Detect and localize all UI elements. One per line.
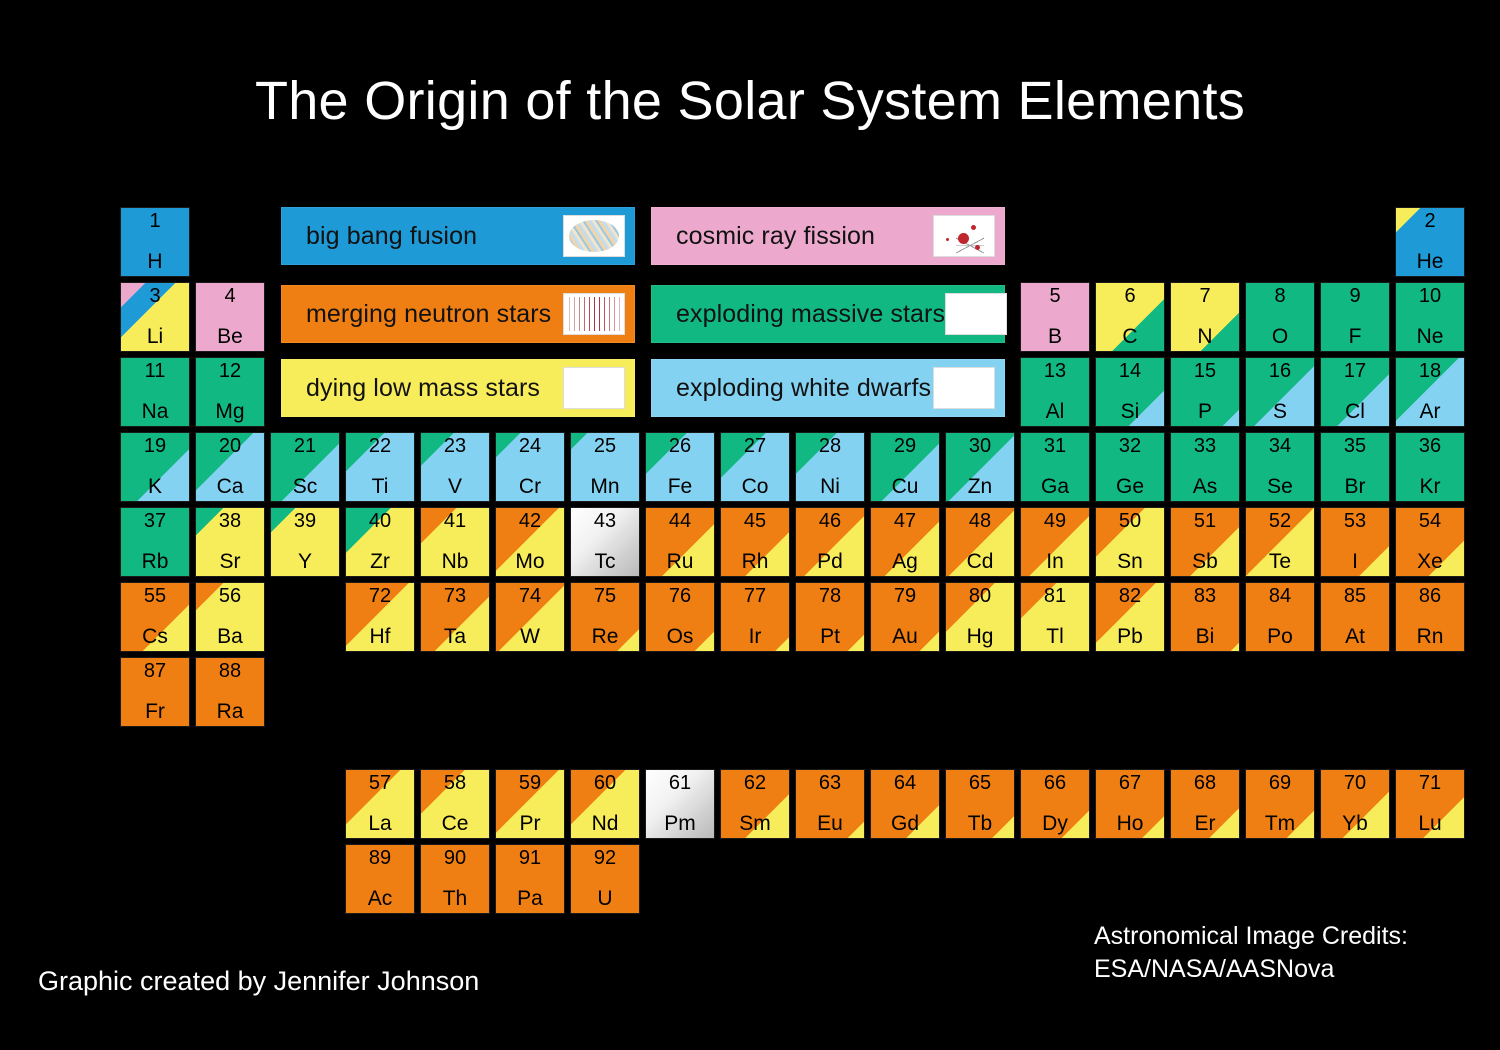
element-symbol: Yb — [1321, 813, 1389, 834]
element-symbol: Cd — [946, 551, 1014, 572]
element-atomic-number: 83 — [1171, 586, 1239, 606]
element-symbol: Mg — [196, 401, 264, 422]
planetary-nebula-image — [563, 367, 625, 409]
element-cell-la[interactable]: 57La — [345, 769, 415, 839]
element-cell-k[interactable]: 19K — [120, 432, 190, 502]
element-cell-ca[interactable]: 20Ca — [195, 432, 265, 502]
element-symbol: Ho — [1096, 813, 1164, 834]
element-symbol: Pa — [496, 888, 564, 909]
element-atomic-number: 11 — [121, 361, 189, 381]
element-cell-na[interactable]: 11Na — [120, 357, 190, 427]
element-symbol: Tl — [1021, 626, 1089, 647]
gravitational-wave-image — [563, 293, 625, 335]
element-symbol: Ru — [646, 551, 714, 572]
element-atomic-number: 47 — [871, 511, 939, 531]
element-cell-ho[interactable]: 67Ho — [1095, 769, 1165, 839]
element-atomic-number: 90 — [421, 848, 489, 868]
element-symbol: N — [1171, 326, 1239, 347]
element-cell-in[interactable]: 49In — [1020, 507, 1090, 577]
element-atomic-number: 87 — [121, 661, 189, 681]
element-symbol: Xe — [1396, 551, 1464, 572]
element-cell-ta[interactable]: 73Ta — [420, 582, 490, 652]
element-symbol: Po — [1246, 626, 1314, 647]
element-atomic-number: 7 — [1171, 286, 1239, 306]
element-cell-v[interactable]: 23V — [420, 432, 490, 502]
legend-label: exploding massive stars — [652, 300, 945, 329]
element-atomic-number: 23 — [421, 436, 489, 456]
element-cell-mg[interactable]: 12Mg — [195, 357, 265, 427]
element-symbol: Ni — [796, 476, 864, 497]
element-cell-gd[interactable]: 64Gd — [870, 769, 940, 839]
element-cell-ce[interactable]: 58Ce — [420, 769, 490, 839]
legend-item-dying-low-mass-stars: dying low mass stars — [281, 359, 635, 417]
element-cell-i[interactable]: 53I — [1320, 507, 1390, 577]
element-cell-as[interactable]: 33As — [1170, 432, 1240, 502]
element-atomic-number: 35 — [1321, 436, 1389, 456]
element-atomic-number: 81 — [1021, 586, 1089, 606]
element-cell-f[interactable]: 9F — [1320, 282, 1390, 352]
element-symbol: Te — [1246, 551, 1314, 572]
element-atomic-number: 53 — [1321, 511, 1389, 531]
element-cell-cs[interactable]: 55Cs — [120, 582, 190, 652]
element-symbol: V — [421, 476, 489, 497]
element-atomic-number: 74 — [496, 586, 564, 606]
element-symbol: F — [1321, 326, 1389, 347]
image-credits-value: ESA/NASA/AASNova — [1094, 953, 1408, 986]
element-symbol: Be — [196, 326, 264, 347]
element-symbol: Cl — [1321, 401, 1389, 422]
element-atomic-number: 9 — [1321, 286, 1389, 306]
author-credit: Graphic created by Jennifer Johnson — [38, 966, 479, 997]
white-dwarf-supernova-image — [933, 367, 995, 409]
element-symbol: Sr — [196, 551, 264, 572]
element-symbol: Fe — [646, 476, 714, 497]
element-symbol: Nd — [571, 813, 639, 834]
element-symbol: Cu — [871, 476, 939, 497]
element-symbol: Br — [1321, 476, 1389, 497]
element-symbol: Si — [1096, 401, 1164, 422]
element-atomic-number: 88 — [196, 661, 264, 681]
element-symbol: Nb — [421, 551, 489, 572]
element-atomic-number: 14 — [1096, 361, 1164, 381]
element-symbol: As — [1171, 476, 1239, 497]
element-cell-lu[interactable]: 71Lu — [1395, 769, 1465, 839]
element-symbol: S — [1246, 401, 1314, 422]
element-symbol: Bi — [1171, 626, 1239, 647]
element-atomic-number: 3 — [121, 286, 189, 306]
element-cell-pt[interactable]: 78Pt — [795, 582, 865, 652]
element-symbol: Al — [1021, 401, 1089, 422]
element-cell-fe[interactable]: 26Fe — [645, 432, 715, 502]
element-cell-si[interactable]: 14Si — [1095, 357, 1165, 427]
element-cell-al[interactable]: 13Al — [1020, 357, 1090, 427]
element-cell-br[interactable]: 35Br — [1320, 432, 1390, 502]
element-atomic-number: 34 — [1246, 436, 1314, 456]
image-credits: Astronomical Image Credits: ESA/NASA/AAS… — [1094, 920, 1408, 986]
element-atomic-number: 62 — [721, 773, 789, 793]
element-cell-eu[interactable]: 63Eu — [795, 769, 865, 839]
element-cell-rn[interactable]: 86Rn — [1395, 582, 1465, 652]
element-cell-fr[interactable]: 87Fr — [120, 657, 190, 727]
element-cell-s[interactable]: 16S — [1245, 357, 1315, 427]
element-symbol: Sc — [271, 476, 339, 497]
element-cell-h[interactable]: 1H — [120, 207, 190, 277]
element-symbol: Rb — [121, 551, 189, 572]
element-symbol: Eu — [796, 813, 864, 834]
element-cell-be[interactable]: 4Be — [195, 282, 265, 352]
element-symbol: Ca — [196, 476, 264, 497]
element-symbol: W — [496, 626, 564, 647]
element-atomic-number: 70 — [1321, 773, 1389, 793]
legend-label: exploding white dwarfs — [652, 374, 933, 403]
element-symbol: Sb — [1171, 551, 1239, 572]
element-symbol: H — [121, 251, 189, 272]
element-atomic-number: 15 — [1171, 361, 1239, 381]
element-symbol: Os — [646, 626, 714, 647]
element-atomic-number: 82 — [1096, 586, 1164, 606]
element-atomic-number: 80 — [946, 586, 1014, 606]
element-cell-po[interactable]: 84Po — [1245, 582, 1315, 652]
element-atomic-number: 78 — [796, 586, 864, 606]
element-cell-w[interactable]: 74W — [495, 582, 565, 652]
element-atomic-number: 43 — [571, 511, 639, 531]
element-cell-sr[interactable]: 38Sr — [195, 507, 265, 577]
element-cell-ge[interactable]: 32Ge — [1095, 432, 1165, 502]
element-atomic-number: 72 — [346, 586, 414, 606]
element-symbol: Rh — [721, 551, 789, 572]
element-symbol: Zr — [346, 551, 414, 572]
element-symbol: Fr — [121, 701, 189, 722]
element-atomic-number: 68 — [1171, 773, 1239, 793]
element-symbol: Er — [1171, 813, 1239, 834]
element-atomic-number: 27 — [721, 436, 789, 456]
element-symbol: Ge — [1096, 476, 1164, 497]
element-symbol: Zn — [946, 476, 1014, 497]
element-atomic-number: 17 — [1321, 361, 1389, 381]
element-cell-hg[interactable]: 80Hg — [945, 582, 1015, 652]
element-symbol: Pd — [796, 551, 864, 572]
element-atomic-number: 49 — [1021, 511, 1089, 531]
element-cell-er[interactable]: 68Er — [1170, 769, 1240, 839]
element-cell-ac[interactable]: 89Ac — [345, 844, 415, 914]
element-symbol: La — [346, 813, 414, 834]
element-symbol: Ce — [421, 813, 489, 834]
element-cell-cl[interactable]: 17Cl — [1320, 357, 1390, 427]
element-cell-at[interactable]: 85At — [1320, 582, 1390, 652]
element-cell-sn[interactable]: 50Sn — [1095, 507, 1165, 577]
element-atomic-number: 28 — [796, 436, 864, 456]
element-symbol: Cr — [496, 476, 564, 497]
legend-label: cosmic ray fission — [652, 222, 933, 251]
element-cell-hf[interactable]: 72Hf — [345, 582, 415, 652]
element-cell-ba[interactable]: 56Ba — [195, 582, 265, 652]
legend-item-exploding-massive-stars: exploding massive stars — [651, 285, 1005, 343]
element-atomic-number: 37 — [121, 511, 189, 531]
image-credits-label: Astronomical Image Credits: — [1094, 920, 1408, 953]
element-atomic-number: 21 — [271, 436, 339, 456]
element-symbol: Dy — [1021, 813, 1089, 834]
element-atomic-number: 85 — [1321, 586, 1389, 606]
element-atomic-number: 58 — [421, 773, 489, 793]
element-atomic-number: 48 — [946, 511, 1014, 531]
element-cell-ti[interactable]: 22Ti — [345, 432, 415, 502]
element-symbol: Au — [871, 626, 939, 647]
element-atomic-number: 45 — [721, 511, 789, 531]
legend-item-exploding-white-dwarfs: exploding white dwarfs — [651, 359, 1005, 417]
element-atomic-number: 16 — [1246, 361, 1314, 381]
element-symbol: Ti — [346, 476, 414, 497]
element-atomic-number: 8 — [1246, 286, 1314, 306]
element-atomic-number: 33 — [1171, 436, 1239, 456]
element-atomic-number: 38 — [196, 511, 264, 531]
element-symbol: Tb — [946, 813, 1014, 834]
element-symbol: He — [1396, 251, 1464, 272]
element-symbol: Re — [571, 626, 639, 647]
element-symbol: Co — [721, 476, 789, 497]
element-atomic-number: 51 — [1171, 511, 1239, 531]
element-atomic-number: 92 — [571, 848, 639, 868]
element-cell-re[interactable]: 75Re — [570, 582, 640, 652]
element-cell-bi[interactable]: 83Bi — [1170, 582, 1240, 652]
element-cell-sm[interactable]: 62Sm — [720, 769, 790, 839]
element-symbol: Ra — [196, 701, 264, 722]
element-atomic-number: 42 — [496, 511, 564, 531]
element-cell-ni[interactable]: 28Ni — [795, 432, 865, 502]
legend-item-cosmic-ray-fission: cosmic ray fission — [651, 207, 1005, 265]
element-symbol: Sm — [721, 813, 789, 834]
element-cell-au[interactable]: 79Au — [870, 582, 940, 652]
element-atomic-number: 18 — [1396, 361, 1464, 381]
element-symbol: Kr — [1396, 476, 1464, 497]
element-cell-b[interactable]: 5B — [1020, 282, 1090, 352]
element-cell-xe[interactable]: 54Xe — [1395, 507, 1465, 577]
element-symbol: Na — [121, 401, 189, 422]
element-cell-y[interactable]: 39Y — [270, 507, 340, 577]
element-cell-pr[interactable]: 59Pr — [495, 769, 565, 839]
element-cell-pd[interactable]: 46Pd — [795, 507, 865, 577]
element-atomic-number: 25 — [571, 436, 639, 456]
element-symbol: Gd — [871, 813, 939, 834]
element-atomic-number: 32 — [1096, 436, 1164, 456]
element-cell-ru[interactable]: 44Ru — [645, 507, 715, 577]
element-atomic-number: 4 — [196, 286, 264, 306]
element-atomic-number: 64 — [871, 773, 939, 793]
element-cell-sb[interactable]: 51Sb — [1170, 507, 1240, 577]
element-cell-pb[interactable]: 82Pb — [1095, 582, 1165, 652]
element-cell-nb[interactable]: 41Nb — [420, 507, 490, 577]
element-atomic-number: 75 — [571, 586, 639, 606]
element-symbol: Ga — [1021, 476, 1089, 497]
element-cell-ir[interactable]: 77Ir — [720, 582, 790, 652]
element-atomic-number: 59 — [496, 773, 564, 793]
element-cell-ar[interactable]: 18Ar — [1395, 357, 1465, 427]
element-symbol: Tm — [1246, 813, 1314, 834]
element-cell-mn[interactable]: 25Mn — [570, 432, 640, 502]
element-cell-yb[interactable]: 70Yb — [1320, 769, 1390, 839]
element-symbol: Se — [1246, 476, 1314, 497]
element-symbol: Pr — [496, 813, 564, 834]
element-symbol: Mn — [571, 476, 639, 497]
element-atomic-number: 76 — [646, 586, 714, 606]
element-symbol: Ta — [421, 626, 489, 647]
legend-item-merging-neutron-stars: merging neutron stars — [281, 285, 635, 343]
element-cell-rb[interactable]: 37Rb — [120, 507, 190, 577]
element-cell-n[interactable]: 7N — [1170, 282, 1240, 352]
element-atomic-number: 19 — [121, 436, 189, 456]
element-symbol: Ba — [196, 626, 264, 647]
element-symbol: I — [1321, 551, 1389, 572]
element-atomic-number: 26 — [646, 436, 714, 456]
element-atomic-number: 40 — [346, 511, 414, 531]
element-atomic-number: 63 — [796, 773, 864, 793]
element-atomic-number: 57 — [346, 773, 414, 793]
periodic-table-graphic: The Origin of the Solar System Elements … — [0, 0, 1500, 1050]
element-atomic-number: 31 — [1021, 436, 1089, 456]
element-cell-li[interactable]: 3Li — [120, 282, 190, 352]
page-title: The Origin of the Solar System Elements — [0, 72, 1500, 131]
element-atomic-number: 13 — [1021, 361, 1089, 381]
element-symbol: Ne — [1396, 326, 1464, 347]
element-symbol: Pb — [1096, 626, 1164, 647]
element-atomic-number: 79 — [871, 586, 939, 606]
element-symbol: K — [121, 476, 189, 497]
legend-label: big bang fusion — [282, 222, 563, 251]
element-atomic-number: 77 — [721, 586, 789, 606]
element-symbol: O — [1246, 326, 1314, 347]
element-atomic-number: 10 — [1396, 286, 1464, 306]
element-atomic-number: 50 — [1096, 511, 1164, 531]
element-symbol: Mo — [496, 551, 564, 572]
element-cell-tl[interactable]: 81Tl — [1020, 582, 1090, 652]
element-atomic-number: 29 — [871, 436, 939, 456]
element-atomic-number: 20 — [196, 436, 264, 456]
element-cell-nd[interactable]: 60Nd — [570, 769, 640, 839]
element-symbol: Cs — [121, 626, 189, 647]
element-atomic-number: 6 — [1096, 286, 1164, 306]
element-symbol: In — [1021, 551, 1089, 572]
element-cell-ga[interactable]: 31Ga — [1020, 432, 1090, 502]
legend-item-big-bang-fusion: big bang fusion — [281, 207, 635, 265]
element-atomic-number: 66 — [1021, 773, 1089, 793]
element-cell-zr[interactable]: 40Zr — [345, 507, 415, 577]
element-symbol: Rn — [1396, 626, 1464, 647]
element-atomic-number: 1 — [121, 211, 189, 231]
element-symbol: At — [1321, 626, 1389, 647]
element-atomic-number: 71 — [1396, 773, 1464, 793]
element-cell-rh[interactable]: 45Rh — [720, 507, 790, 577]
element-cell-sc[interactable]: 21Sc — [270, 432, 340, 502]
element-cell-tc[interactable]: 43Tc — [570, 507, 640, 577]
element-cell-tb[interactable]: 65Tb — [945, 769, 1015, 839]
element-atomic-number: 91 — [496, 848, 564, 868]
element-atomic-number: 84 — [1246, 586, 1314, 606]
element-atomic-number: 12 — [196, 361, 264, 381]
element-atomic-number: 54 — [1396, 511, 1464, 531]
element-atomic-number: 65 — [946, 773, 1014, 793]
element-atomic-number: 89 — [346, 848, 414, 868]
legend-label: merging neutron stars — [282, 300, 563, 329]
supernova-image — [945, 293, 1007, 335]
element-atomic-number: 60 — [571, 773, 639, 793]
element-atomic-number: 24 — [496, 436, 564, 456]
cosmic-ray-spallation-image — [933, 215, 995, 257]
element-symbol: Hf — [346, 626, 414, 647]
element-cell-he[interactable]: 2He — [1395, 207, 1465, 277]
element-symbol: Y — [271, 551, 339, 572]
element-atomic-number: 5 — [1021, 286, 1089, 306]
element-atomic-number: 52 — [1246, 511, 1314, 531]
element-cell-o[interactable]: 8O — [1245, 282, 1315, 352]
element-cell-ra[interactable]: 88Ra — [195, 657, 265, 727]
element-cell-os[interactable]: 76Os — [645, 582, 715, 652]
element-cell-pm[interactable]: 61Pm — [645, 769, 715, 839]
element-cell-cu[interactable]: 29Cu — [870, 432, 940, 502]
element-atomic-number: 44 — [646, 511, 714, 531]
element-cell-ne[interactable]: 10Ne — [1395, 282, 1465, 352]
element-symbol: Lu — [1396, 813, 1464, 834]
element-symbol: U — [571, 888, 639, 909]
element-symbol: Sn — [1096, 551, 1164, 572]
element-symbol: Th — [421, 888, 489, 909]
element-cell-dy[interactable]: 66Dy — [1020, 769, 1090, 839]
element-atomic-number: 46 — [796, 511, 864, 531]
element-atomic-number: 73 — [421, 586, 489, 606]
element-cell-te[interactable]: 52Te — [1245, 507, 1315, 577]
element-atomic-number: 67 — [1096, 773, 1164, 793]
element-atomic-number: 2 — [1396, 211, 1464, 231]
element-cell-mo[interactable]: 42Mo — [495, 507, 565, 577]
element-atomic-number: 86 — [1396, 586, 1464, 606]
element-symbol: Li — [121, 326, 189, 347]
element-cell-pa[interactable]: 91Pa — [495, 844, 565, 914]
element-symbol: Hg — [946, 626, 1014, 647]
element-cell-ag[interactable]: 47Ag — [870, 507, 940, 577]
element-symbol: P — [1171, 401, 1239, 422]
element-symbol: Ar — [1396, 401, 1464, 422]
element-symbol: Ac — [346, 888, 414, 909]
element-symbol: Tc — [571, 551, 639, 572]
element-atomic-number: 55 — [121, 586, 189, 606]
element-atomic-number: 30 — [946, 436, 1014, 456]
element-cell-tm[interactable]: 69Tm — [1245, 769, 1315, 839]
element-cell-se[interactable]: 34Se — [1245, 432, 1315, 502]
element-cell-c[interactable]: 6C — [1095, 282, 1165, 352]
element-cell-th[interactable]: 90Th — [420, 844, 490, 914]
element-cell-zn[interactable]: 30Zn — [945, 432, 1015, 502]
cmb-map-image — [563, 215, 625, 257]
element-atomic-number: 39 — [271, 511, 339, 531]
element-symbol: Ag — [871, 551, 939, 572]
element-cell-p[interactable]: 15P — [1170, 357, 1240, 427]
element-atomic-number: 56 — [196, 586, 264, 606]
element-atomic-number: 69 — [1246, 773, 1314, 793]
element-symbol: Pm — [646, 813, 714, 834]
element-cell-u[interactable]: 92U — [570, 844, 640, 914]
element-atomic-number: 61 — [646, 773, 714, 793]
legend-label: dying low mass stars — [282, 374, 563, 403]
element-symbol: Pt — [796, 626, 864, 647]
element-cell-cr[interactable]: 24Cr — [495, 432, 565, 502]
element-atomic-number: 22 — [346, 436, 414, 456]
element-cell-kr[interactable]: 36Kr — [1395, 432, 1465, 502]
element-cell-cd[interactable]: 48Cd — [945, 507, 1015, 577]
element-cell-co[interactable]: 27Co — [720, 432, 790, 502]
element-atomic-number: 36 — [1396, 436, 1464, 456]
element-atomic-number: 41 — [421, 511, 489, 531]
element-symbol: C — [1096, 326, 1164, 347]
element-symbol: Ir — [721, 626, 789, 647]
element-symbol: B — [1021, 326, 1089, 347]
